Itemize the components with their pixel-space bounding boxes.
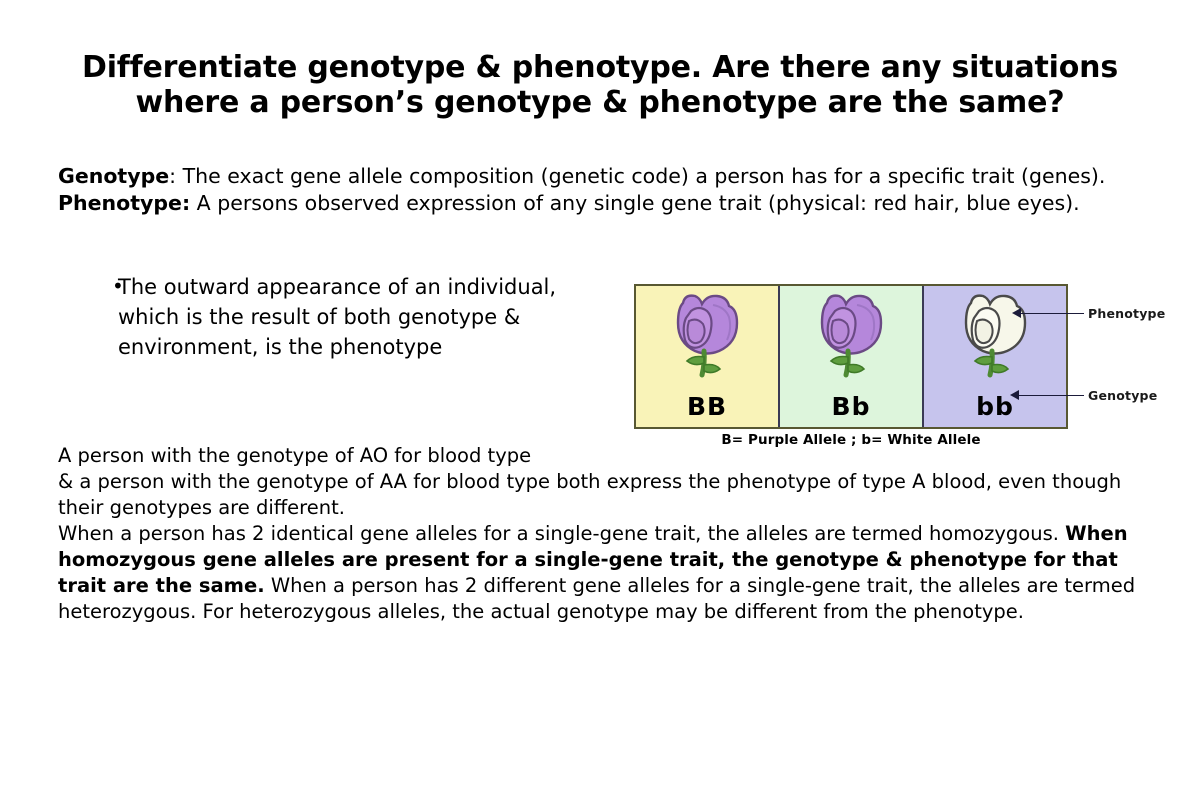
list-item: • The outward appearance of an individua…: [58, 272, 618, 362]
genotype-leader-line: [1018, 395, 1084, 396]
phenotype-term: Phenotype:: [58, 191, 190, 215]
purple-flower-icon: [813, 293, 889, 389]
page-title-line-2: where a person’s genotype & phenotype ar…: [70, 85, 1130, 120]
panel-label-1: Bb: [780, 392, 922, 421]
slide-canvas: Differentiate genotype & phenotype. Are …: [0, 0, 1200, 800]
panel-bb-recessive: bb: [922, 286, 1066, 427]
body-paragraphs: A person with the genotype of AO for blo…: [58, 443, 1148, 624]
phenotype-callout-label: Phenotype: [1088, 306, 1165, 321]
paragraph-1-line-1: A person with the genotype of AO for blo…: [58, 443, 618, 469]
bullet-item-text: The outward appearance of an individual,…: [114, 272, 618, 362]
paragraph-2-part-1: When a person has 2 identical gene allel…: [58, 522, 1065, 545]
paragraph-1-rest: & a person with the genotype of AA for b…: [58, 469, 1148, 521]
panel-row: BB Bb: [634, 284, 1068, 429]
purple-flower-icon: [669, 293, 745, 389]
paragraph-2: When a person has 2 identical gene allel…: [58, 521, 1148, 625]
panel-bb-dominant: BB: [636, 286, 778, 427]
genotype-arrow-icon: [1010, 390, 1019, 400]
panel-label-2: bb: [924, 392, 1066, 421]
genotype-definition-text: : The exact gene allele composition (gen…: [169, 164, 1105, 188]
phenotype-definition-text: A persons observed expression of any sin…: [190, 191, 1080, 215]
bullet-list: • The outward appearance of an individua…: [58, 272, 618, 362]
panel-label-0: BB: [636, 392, 778, 421]
page-title-line-1: Differentiate genotype & phenotype. Are …: [70, 50, 1130, 85]
genotype-term: Genotype: [58, 164, 169, 188]
panel-bb-heterozygous: Bb: [778, 286, 922, 427]
definitions-block: Genotype: The exact gene allele composit…: [58, 163, 1120, 218]
phenotype-leader-line: [1020, 313, 1084, 314]
phenotype-definition: Phenotype: A persons observed expression…: [58, 190, 1120, 217]
genotype-callout-label: Genotype: [1088, 388, 1157, 403]
genotype-phenotype-figure: BB Bb: [634, 284, 1068, 429]
white-flower-icon: [957, 293, 1033, 389]
bullet-marker-icon: •: [58, 272, 114, 301]
page-title: Differentiate genotype & phenotype. Are …: [70, 50, 1130, 121]
genotype-definition: Genotype: The exact gene allele composit…: [58, 163, 1120, 190]
phenotype-arrow-icon: [1012, 308, 1021, 318]
